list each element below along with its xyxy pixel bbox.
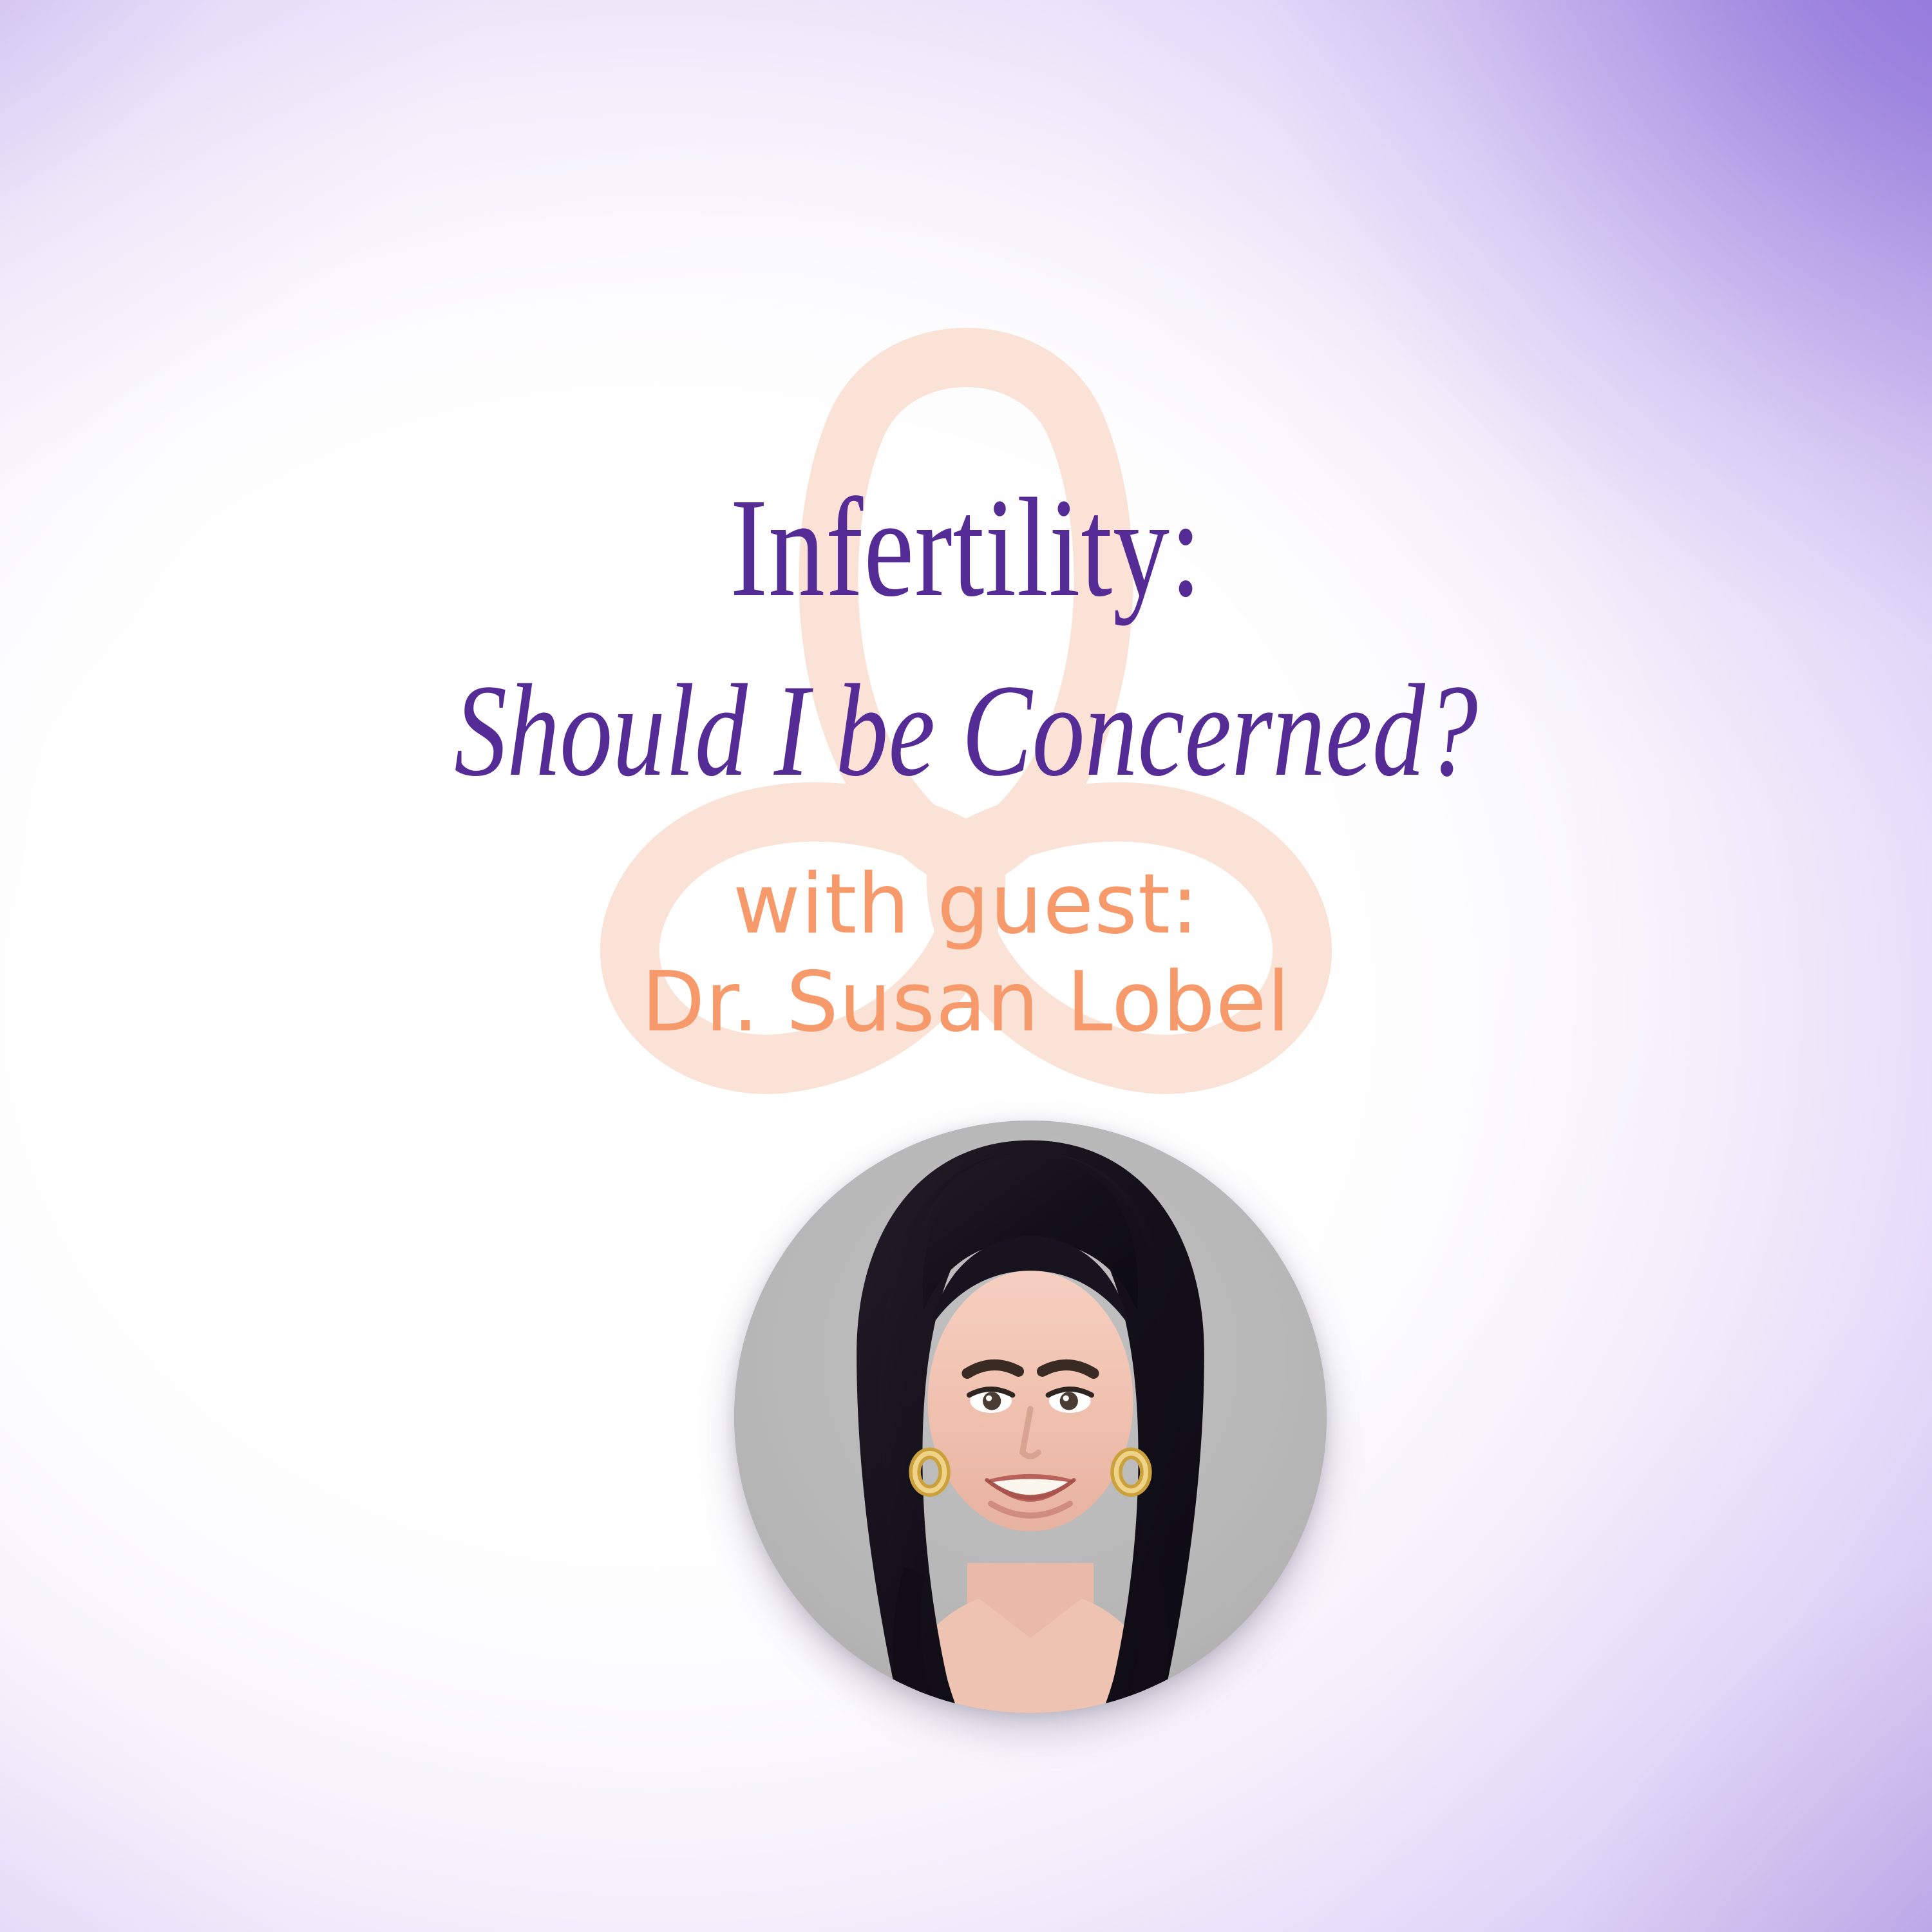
podcast-cover-art: Infertility: Should I be Concerned? with… — [0, 0, 1932, 1932]
guest-credit: with guest: Dr. Susan Lobel — [0, 856, 1932, 1052]
title-text-block: Infertility: Should I be Concerned? with… — [0, 477, 1932, 1052]
guest-prefix-label: with guest: — [0, 856, 1932, 954]
guest-portrait-avatar — [734, 1121, 1327, 1713]
guest-name-label: Dr. Susan Lobel — [0, 954, 1932, 1052]
page-title: Infertility: — [193, 477, 1739, 618]
page-subtitle: Should I be Concerned? — [193, 665, 1739, 797]
